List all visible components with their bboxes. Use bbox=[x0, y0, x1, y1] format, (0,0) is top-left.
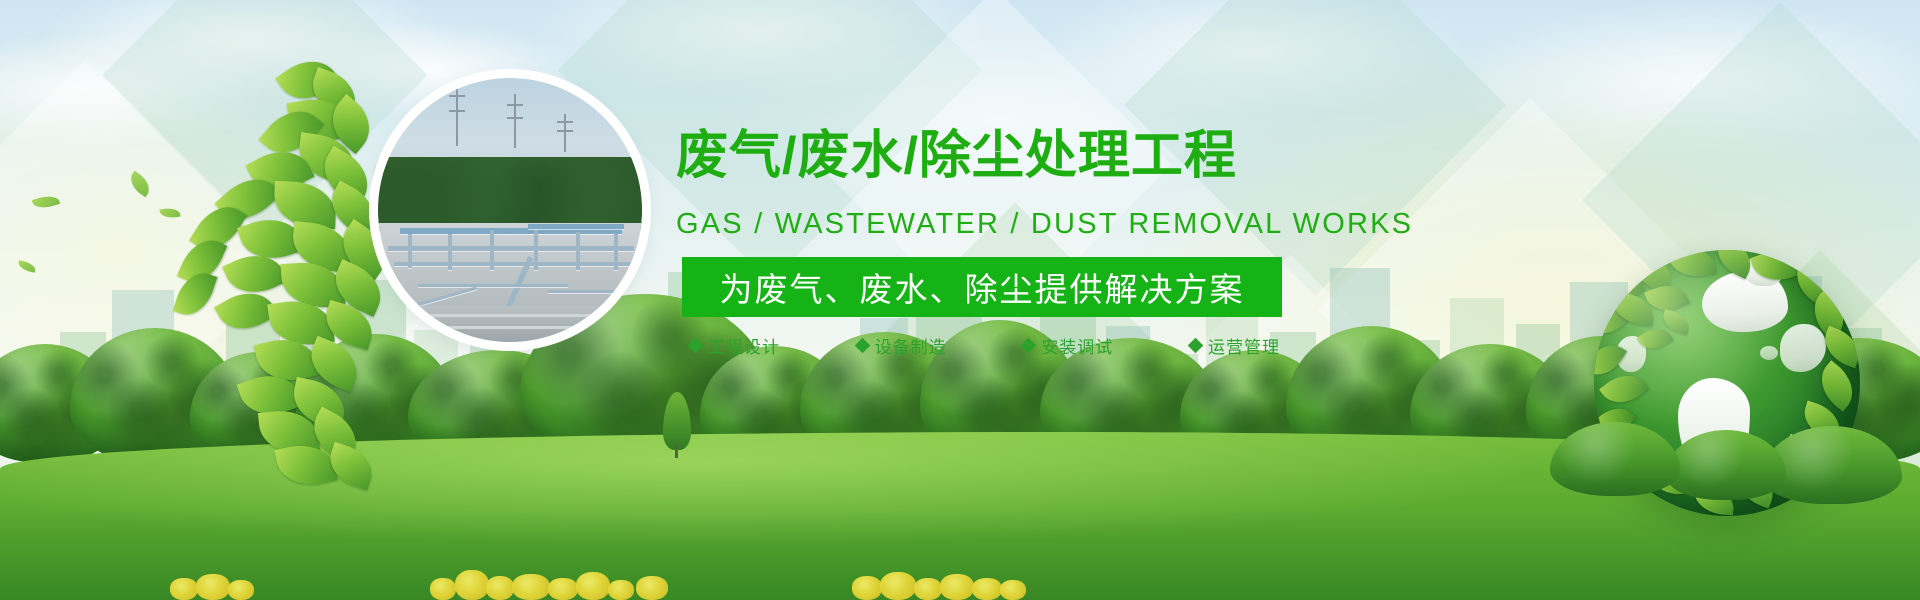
page-subtitle: GAS / WASTEWATER / DUST REMOVAL WORKS bbox=[676, 208, 1413, 241]
diamond-bullet-icon bbox=[1188, 338, 1204, 354]
feature-item: 运营管理 bbox=[1190, 333, 1280, 358]
page-title: 废气/废水/除尘处理工程 bbox=[676, 130, 1237, 182]
feature-label: 设备制造 bbox=[875, 333, 947, 358]
feature-item: 工程设计 bbox=[690, 333, 780, 358]
feature-item: 安装调试 bbox=[1023, 333, 1113, 358]
yellow-flower-cluster bbox=[0, 520, 1920, 600]
wastewater-treatment-plant-photo bbox=[378, 78, 642, 342]
diamond-bullet-icon bbox=[688, 338, 704, 354]
slogan-bar: 为废气、废水、除尘提供解决方案 bbox=[682, 257, 1282, 317]
feature-item: 设备制造 bbox=[857, 333, 947, 358]
lone-tree-trunk bbox=[675, 444, 678, 458]
diamond-bullet-icon bbox=[1021, 338, 1037, 354]
feature-label: 安装调试 bbox=[1041, 333, 1113, 358]
slogan-text: 为废气、废水、除尘提供解决方案 bbox=[720, 263, 1245, 311]
circular-photo-frame bbox=[378, 78, 642, 342]
feature-label: 运营管理 bbox=[1208, 333, 1280, 358]
feature-list: 工程设计 设备制造 安装调试 运营管理 bbox=[690, 333, 1280, 358]
diamond-bullet-icon bbox=[854, 338, 870, 354]
eco-engineering-hero-banner: 废气/废水/除尘处理工程 GAS / WASTEWATER / DUST REM… bbox=[0, 0, 1920, 600]
feature-label: 工程设计 bbox=[708, 333, 780, 358]
